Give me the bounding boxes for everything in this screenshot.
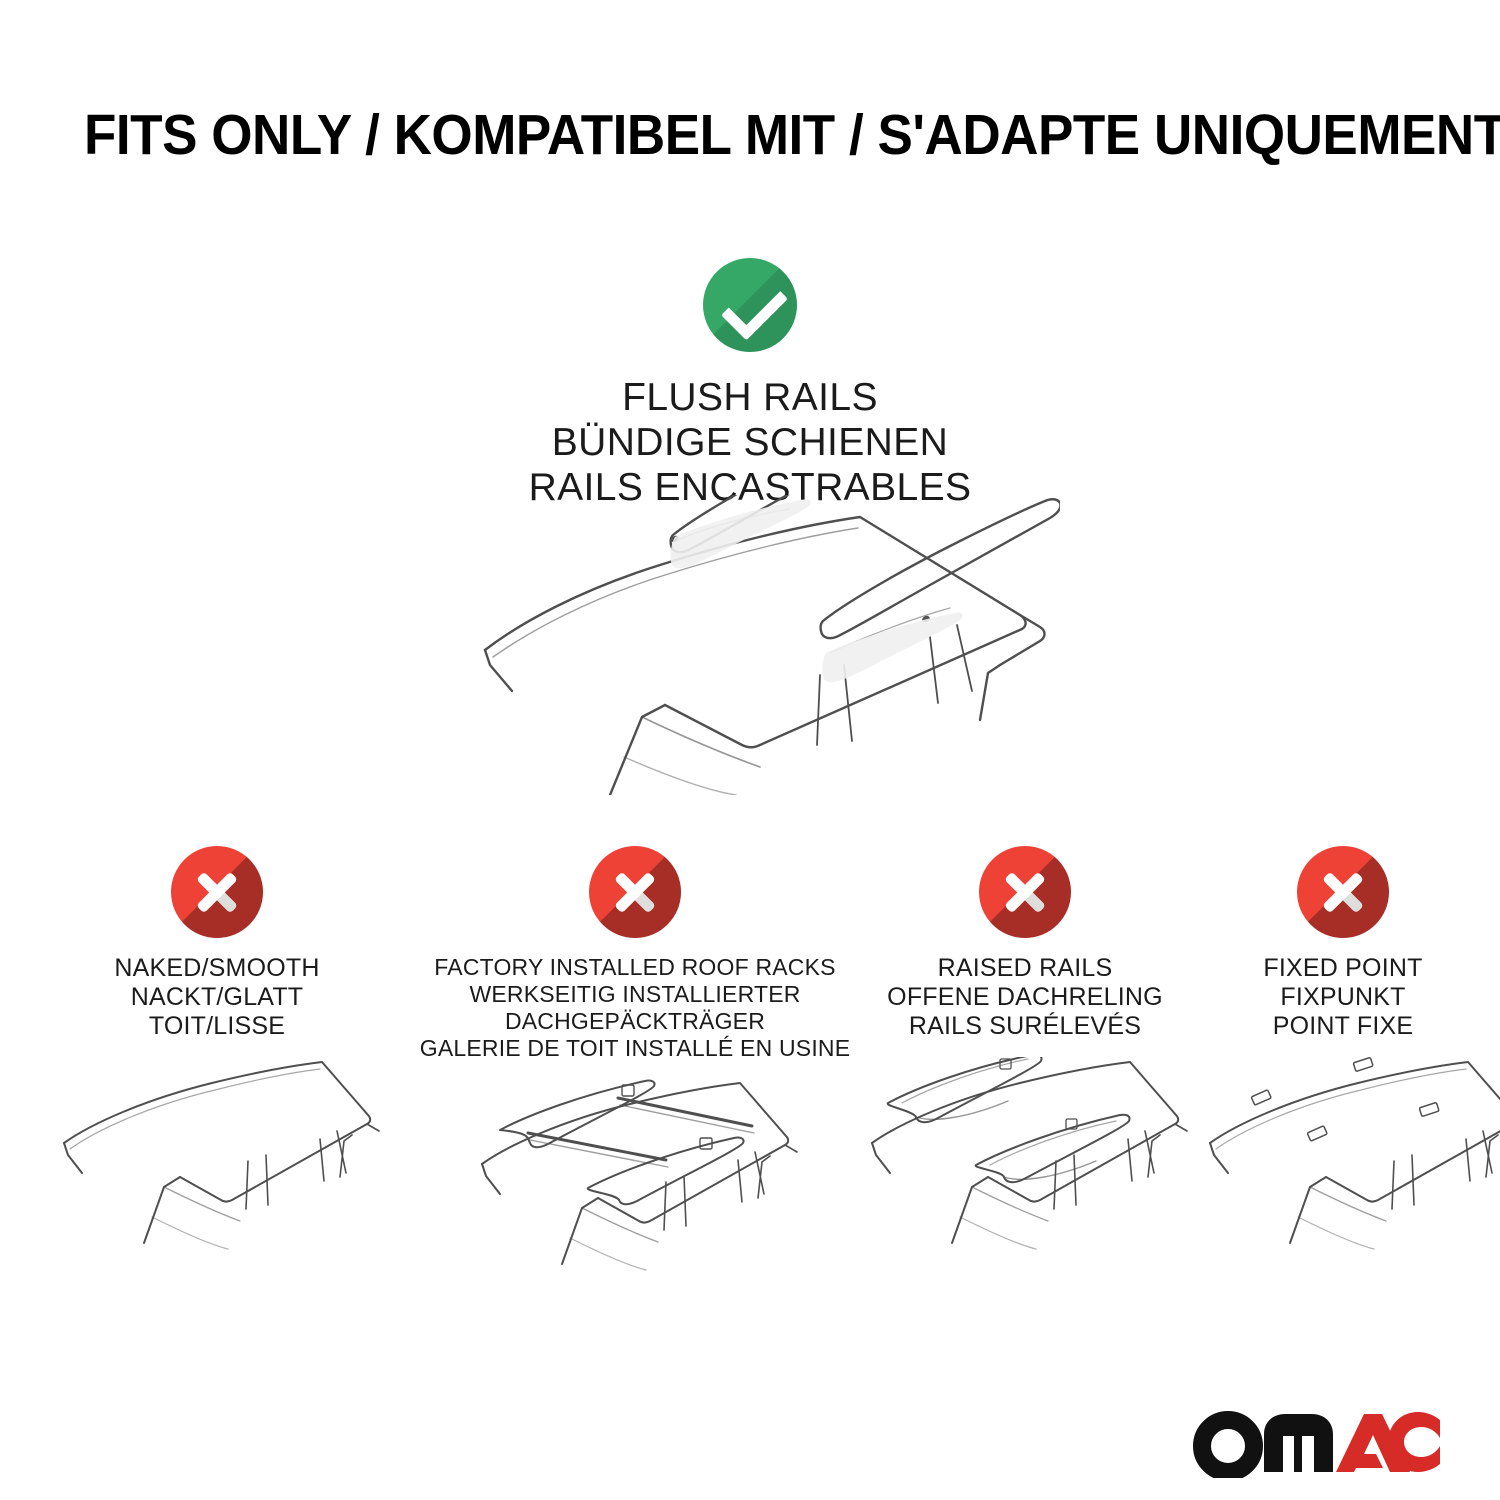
compatible-labels: FLUSH RAILS BÜNDIGE SCHIENEN RAILS ENCAS…: [0, 375, 1500, 510]
item-label-fr: GALERIE DE TOIT INSTALLÉ EN USINE: [420, 1035, 851, 1062]
item-label: FACTORY INSTALLED ROOF RACKS WERKSEITIG …: [420, 954, 851, 1062]
item-label: FIXED POINT FIXPUNKT POINT FIXE: [1263, 954, 1422, 1041]
incompatible-item-naked-smooth: NAKED/SMOOTH NACKT/GLATT TOIT/LISSE: [22, 846, 412, 1272]
x-circle-icon: [171, 846, 263, 938]
item-label-de-2: DACHGEPÄCKTRÄGER: [420, 1008, 851, 1035]
item-label-en: FACTORY INSTALLED ROOF RACKS: [420, 954, 851, 981]
omac-logo: OMAC: [1190, 1408, 1440, 1478]
flush-rails-illustration: [460, 495, 1060, 795]
item-label-en: RAISED RAILS: [887, 954, 1163, 983]
item-label-de-1: WERKSEITIG INSTALLIERTER: [420, 981, 851, 1008]
fixed-point-illustration: [1198, 1057, 1488, 1272]
item-label-fr: POINT FIXE: [1263, 1012, 1422, 1041]
incompatible-item-fixed-point: FIXED POINT FIXPUNKT POINT FIXE: [1198, 846, 1488, 1272]
factory-racks-illustration: [420, 1078, 850, 1293]
compatible-label-en: FLUSH RAILS: [0, 375, 1500, 420]
incompatible-item-factory-racks: FACTORY INSTALLED ROOF RACKS WERKSEITIG …: [420, 846, 850, 1293]
item-label-de: FIXPUNKT: [1263, 983, 1422, 1012]
compatible-label-de: BÜNDIGE SCHIENEN: [0, 420, 1500, 465]
check-circle-icon: [703, 258, 797, 352]
raised-rails-illustration: [860, 1057, 1190, 1272]
item-label-de: OFFENE DACHRELING: [887, 983, 1163, 1012]
incompatible-section: NAKED/SMOOTH NACKT/GLATT TOIT/LISSE: [0, 846, 1500, 1293]
item-label-en: FIXED POINT: [1263, 954, 1422, 983]
infographic-page: FITS ONLY / KOMPATIBEL MIT / S'ADAPTE UN…: [0, 0, 1500, 1500]
incompatible-item-raised-rails: RAISED RAILS OFFENE DACHRELING RAILS SUR…: [860, 846, 1190, 1272]
compatible-section: FLUSH RAILS BÜNDIGE SCHIENEN RAILS ENCAS…: [0, 258, 1500, 510]
item-label: RAISED RAILS OFFENE DACHRELING RAILS SUR…: [887, 954, 1163, 1041]
item-label-fr: TOIT/LISSE: [114, 1012, 319, 1041]
item-label-de: NACKT/GLATT: [114, 983, 319, 1012]
naked-roof-illustration: [22, 1057, 412, 1272]
x-circle-icon: [1297, 846, 1389, 938]
item-label: NAKED/SMOOTH NACKT/GLATT TOIT/LISSE: [114, 954, 319, 1041]
x-circle-icon: [589, 846, 681, 938]
item-label-fr: RAILS SURÉLEVÉS: [887, 1012, 1163, 1041]
x-circle-icon: [979, 846, 1071, 938]
page-title: FITS ONLY / KOMPATIBEL MIT / S'ADAPTE UN…: [84, 104, 1330, 166]
item-label-en: NAKED/SMOOTH: [114, 954, 319, 983]
